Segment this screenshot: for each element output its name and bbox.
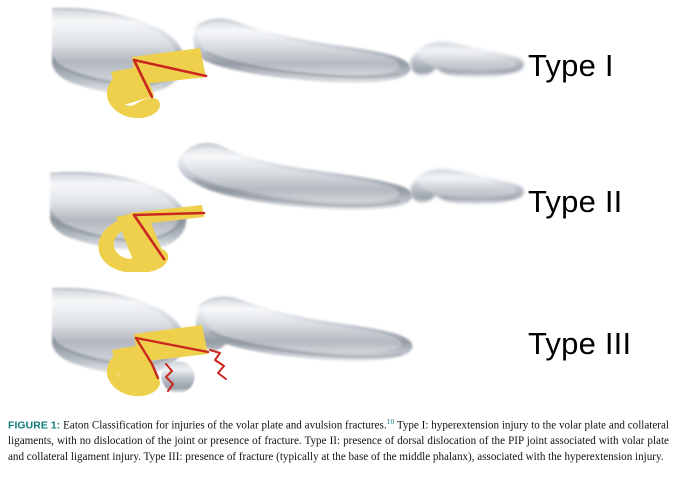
figure-caption: FIGURE 1: Eaton Classification for injur… [0, 408, 677, 469]
figure-container: Type I [0, 0, 677, 488]
panel-type-3: Type III [0, 278, 677, 413]
figure-number-label: FIGURE 1: [8, 421, 60, 432]
panel-type-1: Type I [0, 0, 677, 135]
middle-phalanx-bone [196, 297, 413, 361]
panel-label-type-3: Type III [528, 328, 677, 359]
middle-phalanx-bone [178, 143, 412, 210]
illustration-type-2 [0, 137, 530, 272]
illustration-type-3 [0, 278, 530, 413]
middle-phalanx-bone [193, 19, 410, 83]
panel-label-type-1: Type I [528, 50, 677, 81]
figure-panels: Type I [0, 0, 677, 405]
panel-type-2: Type II [0, 137, 677, 272]
illustration-type-1 [0, 0, 530, 135]
distal-phalanx-bone [410, 42, 524, 77]
panel-label-type-2: Type II [528, 186, 677, 217]
caption-text-primary: Eaton Classification for injuries of the… [60, 420, 386, 432]
distal-phalanx-bone [410, 169, 524, 204]
